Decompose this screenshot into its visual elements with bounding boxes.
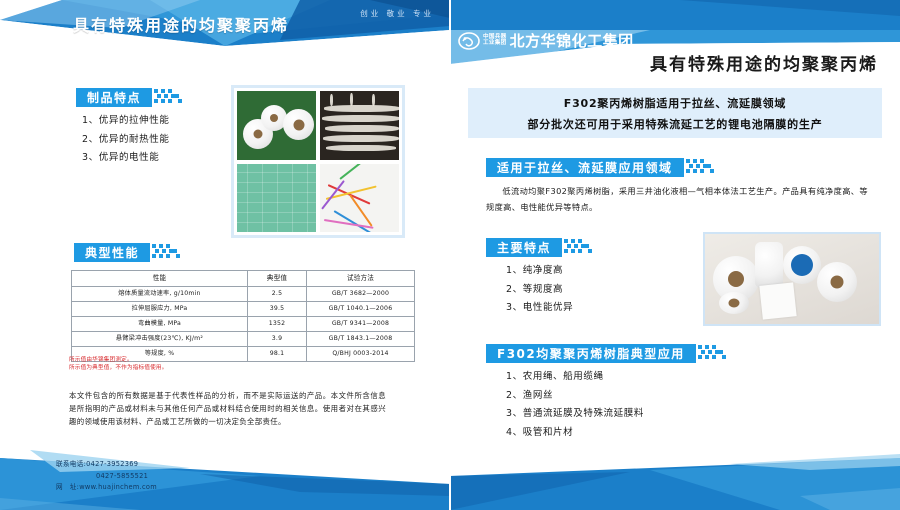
cell-property: 拉伸屈服应力, MPa — [72, 302, 248, 317]
footer-shape-right — [450, 436, 900, 510]
website-label: 网 址: — [56, 483, 79, 491]
highlight-line-2: 部分批次还可用于采用特殊流延工艺的锂电池隔膜的生产 — [528, 116, 823, 132]
cell-method: GB/T 9341—2008 — [307, 317, 415, 332]
table-row: 熔体质量流动速率, g/10min 2.5 GB/T 3682—2000 — [72, 287, 415, 302]
right-page-title: 具有特殊用途的均聚聚丙烯 — [450, 50, 878, 75]
pixel-decoration — [562, 238, 596, 257]
typical-properties-table: 性能 典型值 试验方法 熔体质量流动速率, g/10min 2.5 GB/T 3… — [71, 270, 415, 362]
cell-method: Q/BHJ 0003-2014 — [307, 347, 415, 362]
right-page: 中国兵器 工业集团 北方华锦化工集团 具有特殊用途的均聚聚丙烯 F302聚丙烯树… — [450, 0, 900, 510]
green-mesh-photo — [237, 164, 316, 233]
white-film-rolls-photo — [703, 232, 881, 326]
page-gutter — [449, 0, 451, 510]
contact-info: 联系电话:0427-3952369 0427-5855521 网 址:www.h… — [56, 459, 157, 494]
list-item: 3、电性能优异 — [506, 299, 573, 318]
application-field-heading: 适用于拉丝、流延膜应用领域 — [486, 158, 718, 177]
colored-straws-photo — [320, 164, 399, 233]
list-item: 1、优异的拉伸性能 — [82, 112, 169, 131]
phone-number-1: 0427-3952369 — [86, 460, 138, 468]
list-item: 3、普通流延膜及特殊流延膜料 — [506, 405, 644, 424]
pixel-decoration — [150, 243, 184, 262]
cell-property: 熔体质量流动速率, g/10min — [72, 287, 248, 302]
left-page-footer: 联系电话:0427-3952369 0427-5855521 网 址:www.h… — [0, 436, 450, 510]
product-features-heading-label: 制品特点 — [76, 88, 152, 107]
typical-properties-heading-label: 典型性能 — [74, 243, 150, 262]
application-paragraph: 低流动均聚F302聚丙烯树脂，采用三井油化液相—气相本体法工艺生产。产品具有纯净… — [486, 184, 868, 216]
column-header-property: 性能 — [72, 271, 248, 287]
brochure-spread: 具有特殊用途的均聚聚丙烯 创业 敬业 专业 制品特点 1、优异的拉伸性能 2、优… — [0, 0, 900, 510]
company-name: 北方华锦化工集团 — [510, 30, 634, 51]
left-page-title: 具有特殊用途的均聚聚丙烯 — [73, 12, 289, 36]
table-row: 悬臂梁冲击强度(23℃), KJ/m² 3.9 GB/T 1843.1—2008 — [72, 332, 415, 347]
company-slogan: 创业 敬业 专业 — [360, 8, 434, 19]
cell-value: 1352 — [248, 317, 307, 332]
logo-cn-line-2: 工业集团 — [483, 41, 507, 47]
typical-properties-heading: 典型性能 — [74, 243, 184, 262]
highlight-box: F302聚丙烯树脂适用于拉丝、流延膜领域 部分批次还可用于采用特殊流延工艺的锂电… — [468, 88, 882, 138]
main-features-heading-label: 主要特点 — [486, 238, 562, 257]
list-item: 2、渔网丝 — [506, 387, 644, 406]
typical-applications-heading-label: F302均聚聚丙烯树脂典型应用 — [486, 344, 696, 363]
typical-applications-heading: F302均聚聚丙烯树脂典型应用 — [486, 344, 730, 363]
table-row: 弯曲模量, MPa 1352 GB/T 9341—2008 — [72, 317, 415, 332]
highlight-line-1: F302聚丙烯树脂适用于拉丝、流延膜领域 — [564, 95, 786, 111]
table-header-row: 性能 典型值 试验方法 — [72, 271, 415, 287]
product-features-list: 1、优异的拉伸性能 2、优异的耐热性能 3、优异的电性能 — [82, 112, 169, 168]
table-note-2: 所示值为典型值，不作为指标值使用。 — [69, 364, 168, 373]
list-item: 2、等规度高 — [506, 281, 573, 300]
application-field-heading-label: 适用于拉丝、流延膜应用领域 — [486, 158, 684, 177]
list-item: 3、优异的电性能 — [82, 149, 169, 168]
typical-applications-list: 1、农用绳、船用缆绳 2、渔网丝 3、普通流延膜及特殊流延膜料 4、吸管和片材 — [506, 368, 644, 442]
product-features-heading: 制品特点 — [76, 88, 186, 107]
disclaimer-text: 本文件包含的所有数据是基于代表性样品的分析，而不是实际运送的产品。本文件所含信息… — [69, 390, 386, 429]
list-item: 1、农用绳、船用缆绳 — [506, 368, 644, 387]
product-photo-grid — [231, 85, 405, 238]
cell-value: 2.5 — [248, 287, 307, 302]
cell-property: 弯曲模量, MPa — [72, 317, 248, 332]
cell-value: 98.1 — [248, 347, 307, 362]
column-header-typical-value: 典型值 — [248, 271, 307, 287]
film-rolls-photo — [237, 91, 316, 160]
phone-label: 联系电话: — [56, 460, 86, 468]
cell-value: 3.9 — [248, 332, 307, 347]
website-url[interactable]: www.huajinchem.com — [79, 483, 157, 491]
cell-property: 悬臂梁冲击强度(23℃), KJ/m² — [72, 332, 248, 347]
cell-method: GB/T 1040.1—2006 — [307, 302, 415, 317]
left-page-header-banner: 具有特殊用途的均聚聚丙烯 创业 敬业 专业 — [0, 0, 450, 52]
cell-value: 39.5 — [248, 302, 307, 317]
norinco-logo-icon — [458, 32, 480, 50]
list-item: 1、纯净度高 — [506, 262, 573, 281]
right-page-footer — [450, 436, 900, 510]
main-features-list: 1、纯净度高 2、等规度高 3、电性能优异 — [506, 262, 573, 318]
table-row: 拉伸屈服应力, MPa 39.5 GB/T 1040.1—2006 — [72, 302, 415, 317]
left-page: 具有特殊用途的均聚聚丙烯 创业 敬业 专业 制品特点 1、优异的拉伸性能 2、优… — [0, 0, 450, 510]
pixel-decoration — [684, 158, 718, 177]
pixel-decoration — [152, 88, 186, 107]
pixel-decoration — [696, 344, 730, 363]
cell-method: GB/T 1843.1—2008 — [307, 332, 415, 347]
phone-number-2: 0427-5855521 — [96, 472, 148, 480]
header-company-logo: 中国兵器 工业集团 北方华锦化工集团 — [458, 30, 634, 51]
main-features-heading: 主要特点 — [486, 238, 596, 257]
column-header-test-method: 试验方法 — [307, 271, 415, 287]
logo-chinese-mark: 中国兵器 工业集团 — [483, 35, 507, 47]
cell-method: GB/T 3682—2000 — [307, 287, 415, 302]
rope-coil-photo — [320, 91, 399, 160]
list-item: 2、优异的耐热性能 — [82, 131, 169, 150]
